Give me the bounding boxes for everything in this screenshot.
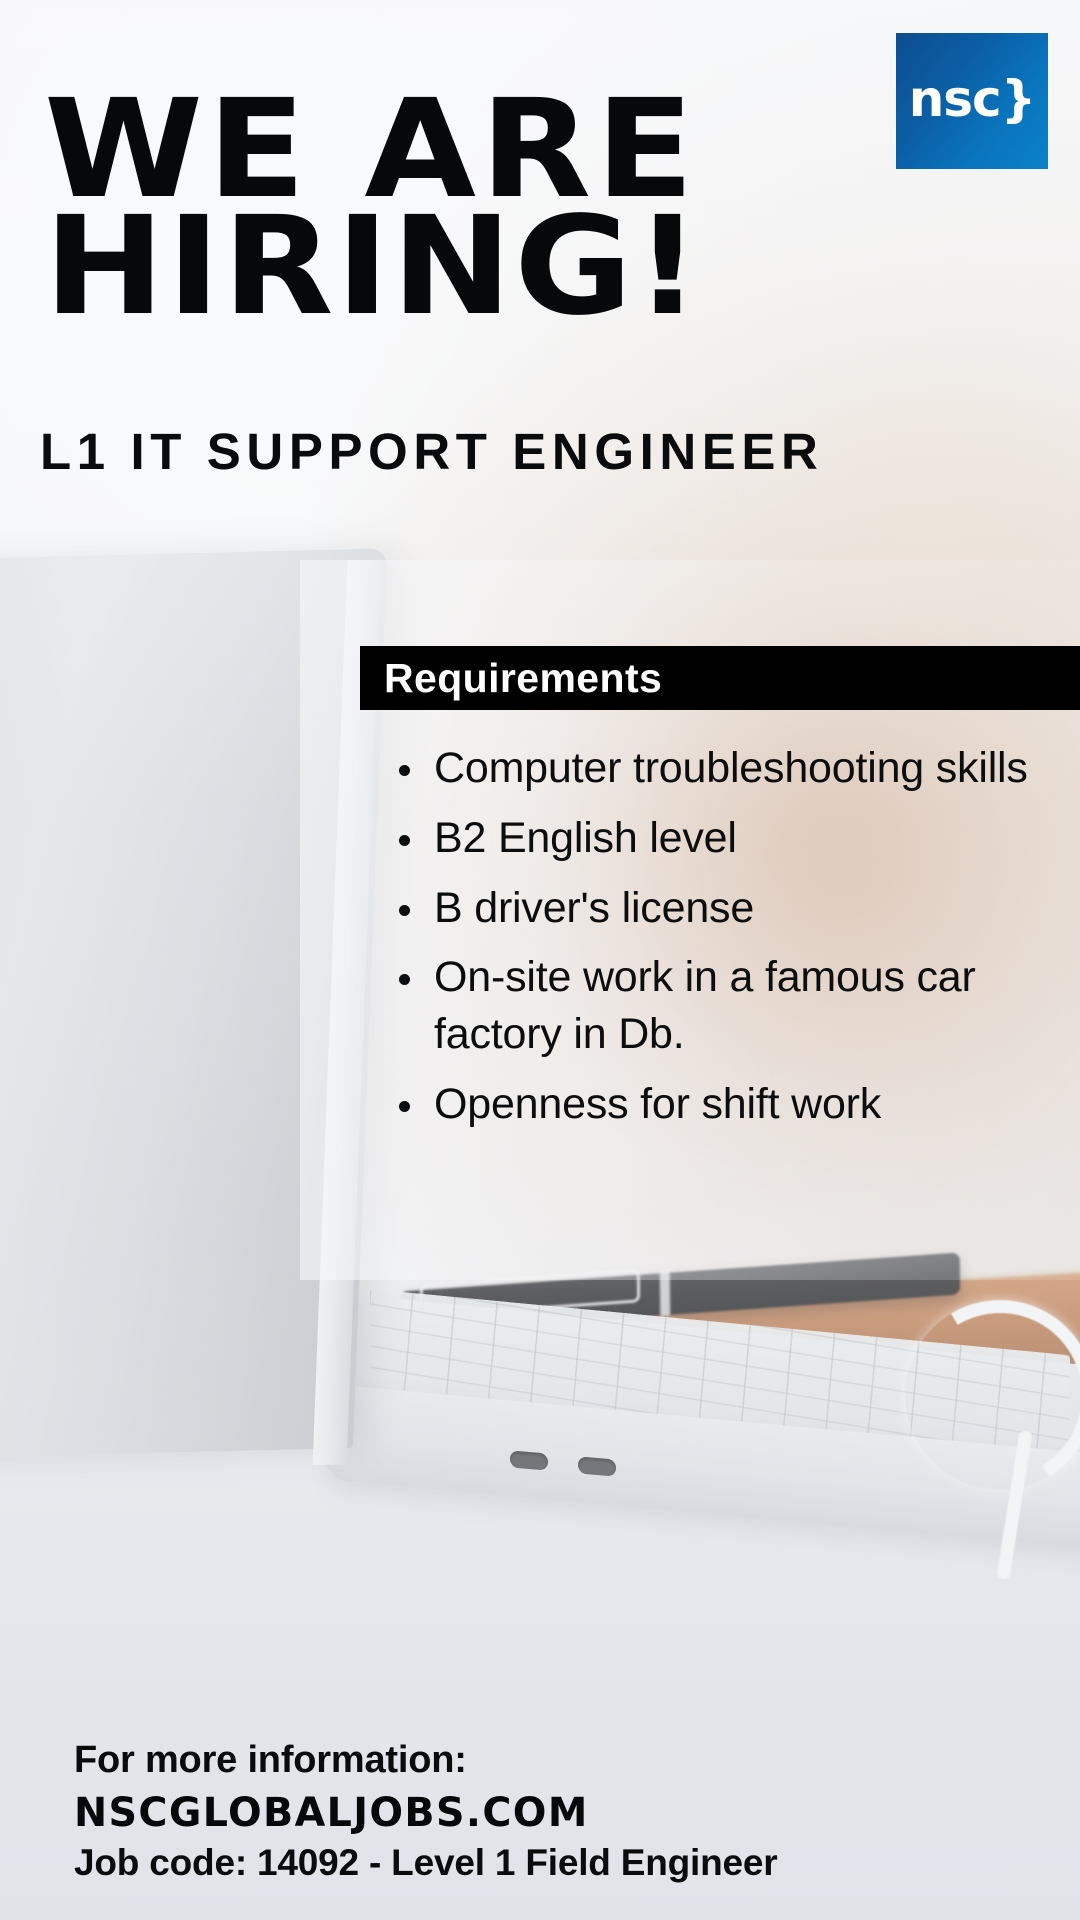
job-code-label: Job code: 14092 - Level 1 Field Engineer bbox=[74, 1842, 1034, 1884]
footer: For more information: NSCGLOBALJOBS.COM … bbox=[74, 1739, 1034, 1884]
more-information-label: For more information: bbox=[74, 1739, 1034, 1782]
requirements-list: Computer troubleshooting skills B2 Engli… bbox=[388, 740, 1080, 1146]
requirements-header-bar: Requirements bbox=[360, 646, 1080, 710]
list-item: On-site work in a famous car factory in … bbox=[388, 949, 1080, 1063]
job-posting-poster: nsc} WE ARE HIRING! L1 IT SUPPORT ENGINE… bbox=[0, 0, 1080, 1920]
list-item: B2 English level bbox=[388, 810, 1080, 867]
requirements-heading: Requirements bbox=[360, 655, 662, 702]
poster-content: nsc} WE ARE HIRING! L1 IT SUPPORT ENGINE… bbox=[0, 0, 1080, 1920]
page-title: WE ARE HIRING! bbox=[44, 92, 786, 326]
list-item: Computer troubleshooting skills bbox=[388, 740, 1080, 797]
headline-line-2: HIRING! bbox=[44, 209, 786, 326]
website-url[interactable]: NSCGLOBALJOBS.COM bbox=[74, 1790, 1024, 1836]
nsc-logo: nsc} bbox=[896, 33, 1048, 169]
list-item: Openness for shift work bbox=[388, 1076, 1080, 1133]
list-item: B driver's license bbox=[388, 880, 1080, 937]
job-title: L1 IT SUPPORT ENGINEER bbox=[40, 422, 1070, 481]
nsc-logo-text: nsc} bbox=[909, 74, 1036, 124]
